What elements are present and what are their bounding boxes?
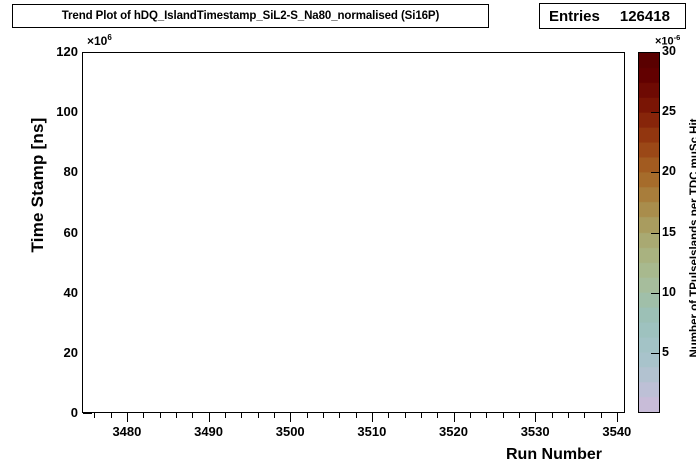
x-tick-minor	[470, 413, 471, 418]
x-tick-minor	[111, 413, 112, 418]
y-tick-label: 60	[38, 225, 78, 240]
x-tick-minor	[486, 413, 487, 418]
x-tick-minor	[94, 413, 95, 418]
colorbar-tick-label: 15	[662, 225, 676, 239]
x-tick-minor	[601, 413, 602, 418]
x-tick-minor	[258, 413, 259, 418]
x-tick-minor	[503, 413, 504, 418]
x-tick-minor	[192, 413, 193, 418]
plot-area[interactable]	[82, 52, 625, 413]
x-tick-minor	[323, 413, 324, 418]
x-tick-minor	[405, 413, 406, 418]
colorbar-title: Number of TPulseIslands per TDC muSc Hit	[689, 88, 696, 388]
colorbar-tick	[651, 353, 660, 354]
entries-label: Entries	[549, 8, 600, 25]
x-tick-major	[127, 413, 128, 422]
page-title: Trend Plot of hDQ_IslandTimestamp_SiL2-S…	[62, 10, 439, 22]
colorbar-tick-label: 20	[662, 164, 676, 178]
colorbar-tick-labels: 51015202530	[662, 0, 692, 472]
y-tick-label: 20	[38, 345, 78, 360]
y-tick-label: 80	[38, 164, 78, 179]
y-exponent-power: 6	[107, 33, 111, 42]
x-tick-label: 3510	[342, 424, 402, 439]
x-tick-major	[535, 413, 536, 422]
x-axis-title: Run Number	[469, 446, 639, 464]
x-tick-minor	[519, 413, 520, 418]
colorbar-tick	[651, 293, 660, 294]
colorbar-tick-label: 30	[662, 44, 676, 58]
x-tick-major	[290, 413, 291, 422]
colorbar-tick	[651, 112, 660, 113]
x-tick-minor	[160, 413, 161, 418]
x-tick-label: 3540	[587, 424, 647, 439]
x-axis-tick-labels: 3480349035003510352035303540	[0, 424, 696, 444]
y-axis-tick-labels: 020406080100120	[34, 0, 78, 472]
x-tick-minor	[584, 413, 585, 418]
y-tick-label: 100	[38, 104, 78, 119]
x-tick-label: 3500	[260, 424, 320, 439]
x-tick-minor	[437, 413, 438, 418]
colorbar-tick-label: 10	[662, 285, 676, 299]
colorbar-tick	[651, 172, 660, 173]
x-tick-major	[209, 413, 210, 422]
colorbar-tick	[651, 233, 660, 234]
x-tick-minor	[356, 413, 357, 418]
x-tick-minor	[176, 413, 177, 418]
x-tick-minor	[143, 413, 144, 418]
x-tick-label: 3480	[97, 424, 157, 439]
colorbar-ticks	[638, 52, 660, 413]
x-tick-label: 3520	[424, 424, 484, 439]
x-tick-minor	[339, 413, 340, 418]
x-tick-minor	[274, 413, 275, 418]
x-tick-minor	[568, 413, 569, 418]
x-tick-minor	[388, 413, 389, 418]
y-tick-label: 40	[38, 285, 78, 300]
colorbar-tick-label: 25	[662, 104, 676, 118]
x-tick-major	[617, 413, 618, 422]
x-tick-minor	[241, 413, 242, 418]
colorbar-tick-label: 5	[662, 345, 669, 359]
root-canvas: Trend Plot of hDQ_IslandTimestamp_SiL2-S…	[0, 0, 696, 472]
x-tick-minor	[552, 413, 553, 418]
x-tick-major	[372, 413, 373, 422]
heatmap-image	[83, 53, 624, 412]
x-tick-label: 3530	[505, 424, 565, 439]
x-tick-label: 3490	[179, 424, 239, 439]
x-tick-minor	[225, 413, 226, 418]
y-tick-label: 120	[38, 44, 78, 59]
x-tick-minor	[307, 413, 308, 418]
x-tick-minor	[421, 413, 422, 418]
x-tick-major	[454, 413, 455, 422]
colorbar-tick	[651, 52, 660, 53]
